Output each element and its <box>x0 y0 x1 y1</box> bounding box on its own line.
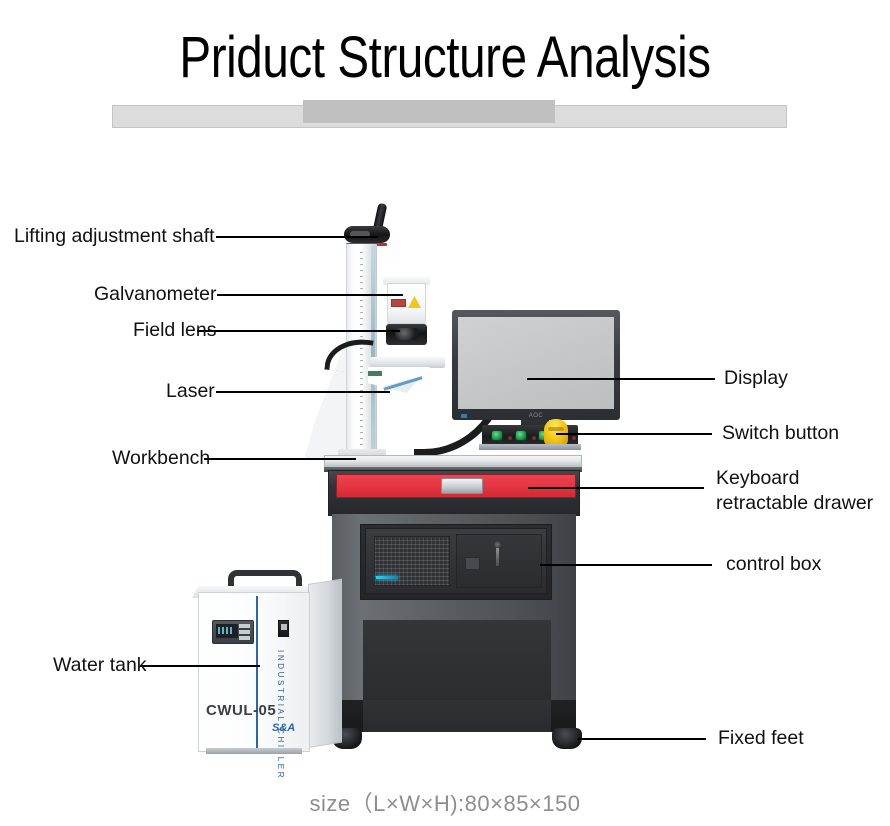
chiller-brand-logo: S&A <box>272 722 295 734</box>
label-lifting-adjustment-shaft: Lifting adjustment shaft <box>14 224 215 249</box>
panel-indicator-3 <box>572 436 576 440</box>
leader-water-tank <box>140 665 260 667</box>
switch-button-panel[interactable] <box>482 425 578 446</box>
chiller-divider-line <box>256 596 258 748</box>
page-title: Priduct Structure Analysis <box>80 24 810 91</box>
label-galvanometer: Galvanometer <box>94 282 216 307</box>
label-display: Display <box>724 366 788 391</box>
control-box-led-icon <box>376 576 398 579</box>
control-box-door[interactable] <box>456 534 542 588</box>
diagram-canvas: Priduct Structure Analysis <box>0 0 890 826</box>
chiller-control-panel[interactable] <box>212 620 254 644</box>
control-box-switch[interactable] <box>465 557 480 570</box>
label-water-tank: Water tank <box>53 653 147 678</box>
leader-fixed-feet <box>578 738 706 740</box>
label-keyboard-drawer-line2: retractable drawer <box>716 491 873 516</box>
leader-display <box>527 378 715 380</box>
cabinet-plinth-center <box>363 700 551 732</box>
leader-lifting-adjustment-shaft <box>216 236 378 238</box>
title-divider <box>0 98 890 132</box>
switch-panel-base <box>479 444 581 450</box>
laser-warning-icon <box>408 296 421 308</box>
label-field-lens: Field lens <box>133 318 216 343</box>
lifting-adjustment-shaft-knob <box>344 226 390 243</box>
chiller-display-icon <box>216 624 238 638</box>
chiller-model-label: CWUL-05 <box>206 702 276 719</box>
display-monitor: AOC <box>452 310 620 420</box>
green-button-1[interactable] <box>491 430 503 441</box>
field-lens-assembly <box>386 324 427 345</box>
label-keyboard-drawer-line1: Keyboard <box>716 466 799 491</box>
leader-workbench <box>204 458 356 460</box>
label-workbench: Workbench <box>112 446 210 471</box>
chiller-side-face <box>308 579 342 748</box>
label-laser: Laser <box>166 379 215 404</box>
control-box <box>365 528 547 594</box>
galvanometer-indicator <box>391 299 406 307</box>
drawer-handle[interactable] <box>441 478 483 494</box>
divider-dark-bar <box>303 100 555 123</box>
chiller-keypad[interactable] <box>239 624 250 641</box>
size-caption: size（L×W×H):80×85×150 <box>0 786 890 818</box>
leader-field-lens <box>197 330 400 332</box>
leader-keyboard-drawer <box>528 487 704 489</box>
panel-indicator-1 <box>508 436 512 440</box>
label-switch-button: Switch button <box>722 421 839 446</box>
monitor-brand-label: AOC <box>529 413 544 419</box>
panel-indicator-2 <box>532 436 536 440</box>
laser-cable-upper <box>324 336 373 375</box>
leader-laser <box>216 391 390 393</box>
leader-switch-button <box>556 433 712 435</box>
label-fixed-feet: Fixed feet <box>718 726 804 751</box>
monitor-power-led-icon <box>461 414 467 418</box>
label-control-box: control box <box>726 552 821 577</box>
chiller-side-text: INDUSTRIAL CHILLER <box>276 650 285 780</box>
green-button-2[interactable] <box>515 430 527 441</box>
leader-control-box <box>540 564 712 566</box>
galvanometer-head <box>387 283 426 324</box>
leader-galvanometer <box>217 294 403 296</box>
chiller-power-switch[interactable] <box>278 620 289 637</box>
chiller-base <box>206 748 302 754</box>
monitor-screen <box>458 317 614 409</box>
key-lock-icon[interactable] <box>493 540 502 549</box>
